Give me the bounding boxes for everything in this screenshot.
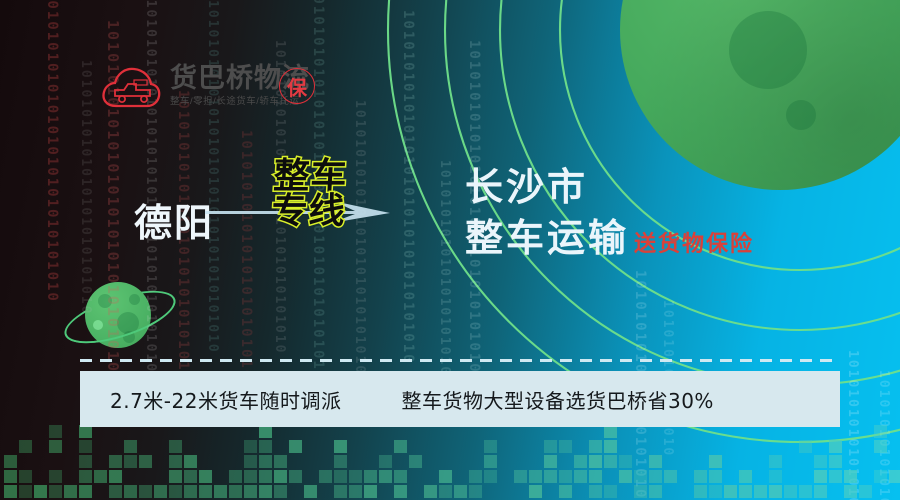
divider-dashed (80, 359, 840, 362)
origin-city: 德阳 (134, 192, 214, 247)
cloud-truck-icon (100, 60, 162, 112)
binary-column: 101010101010101010101010101010 (44, 0, 60, 303)
binary-column: 1010101010101010101010101010101010 (400, 10, 416, 365)
destination-city: 长沙市 (465, 162, 629, 213)
binary-column: 101010101010101010101010101010101010 (205, 0, 220, 354)
service-highlight-line2: 专线 (250, 195, 367, 230)
service-highlight-line1: 整车 (252, 160, 369, 195)
service-highlight: 整车 专线 (250, 160, 369, 229)
banner-right-text: 整车货物大型设备选货巴桥省30% (401, 385, 713, 414)
insurance-note: 送货物保险 (634, 226, 754, 258)
binary-column: 1010101010101010101010101010 (352, 100, 367, 375)
destination-service: 整车运输 (465, 213, 629, 264)
banner-left-text: 2.7米-22米货车随时调派 (110, 385, 341, 414)
binary-column: 1010101010101010101010101010101010101010 (143, 0, 158, 373)
pixel-mosaic (0, 420, 900, 500)
promo-poster: 1010101010101010101010101010101010101010… (0, 0, 900, 500)
binary-column: 10101010101010101010101010 (78, 60, 93, 316)
info-banner: 2.7米-22米货车随时调派 整车货物大型设备选货巴桥省30% (80, 371, 840, 427)
insurance-badge: 保 (279, 68, 315, 104)
destination-block: 长沙市 整车运输 (465, 162, 629, 265)
